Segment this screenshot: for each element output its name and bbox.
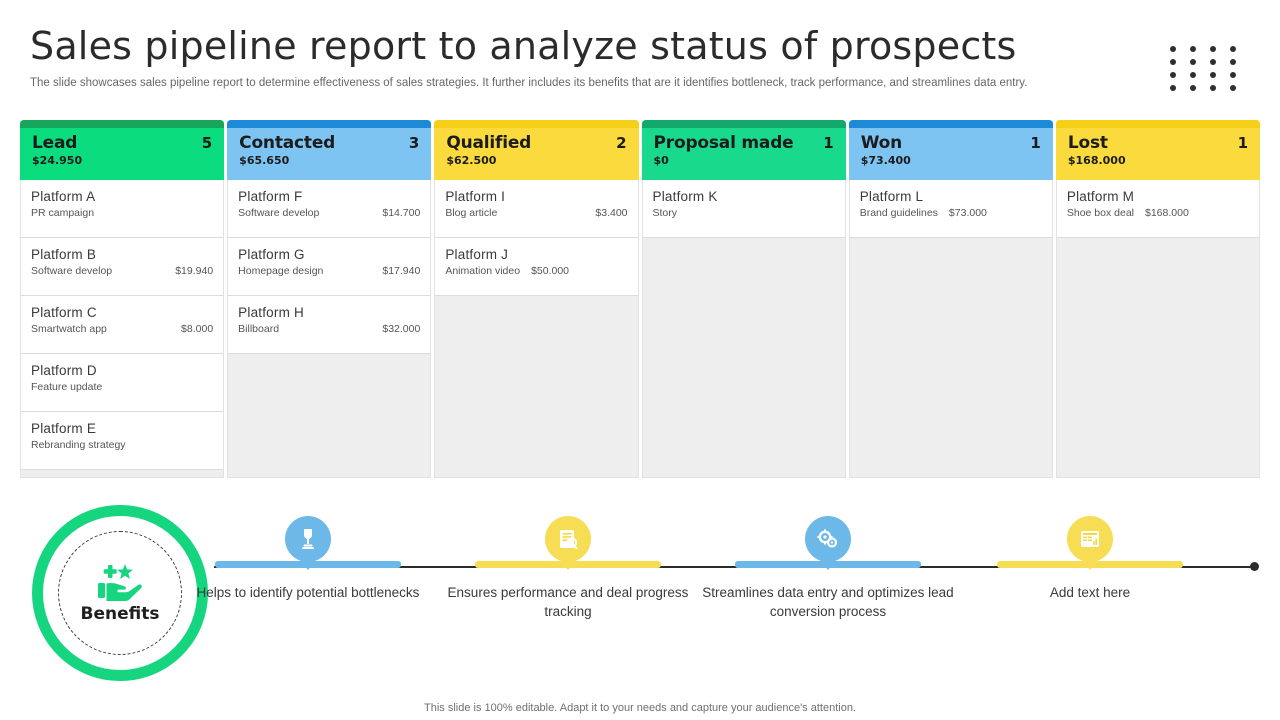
column-count: 5 [202,134,212,152]
deal-card-description: Smartwatch app [31,323,107,335]
deal-card-description: Brand guidelines [860,207,938,219]
column-amount: $65.650 [239,154,419,167]
hand-with-plus-and-star-icon [92,563,148,603]
dot-grid-dot [1170,59,1176,65]
column-amount: $62.500 [446,154,626,167]
column-title: Contacted [239,133,335,153]
pipeline-board: Lead5$24.950Platform APR campaignPlatfor… [20,120,1260,478]
column-header-strip [227,120,431,128]
deal-card[interactable]: Platform KStory [643,180,845,238]
pipeline-column-body: Platform LBrand guidelines$73.000 [849,180,1053,478]
pipeline-column-header[interactable]: Won1$73.400 [849,120,1053,180]
column-amount: $24.950 [32,154,212,167]
milestone-pin[interactable] [805,516,851,562]
deal-card[interactable]: Platform CSmartwatch app$8.000 [21,296,223,354]
deal-card-name: Platform G [238,247,420,263]
column-title: Qualified [446,133,531,153]
column-count: 3 [409,134,419,152]
deal-card-value: $168.000 [1145,207,1189,219]
pipeline-column-header[interactable]: Contacted3$65.650 [227,120,431,180]
pipeline-column: Proposal made1$0Platform KStory [642,120,846,478]
milestone-label: Helps to identify potential bottlenecks [179,583,437,602]
deal-card[interactable]: Platform MShoe box deal$168.000 [1057,180,1259,238]
deal-card[interactable]: Platform HBillboard$32.000 [228,296,430,354]
dot-grid-icon [1170,46,1250,98]
deal-card[interactable]: Platform DFeature update [21,354,223,412]
deal-card-value: $14.700 [382,207,420,219]
deal-card-value: $17.940 [382,265,420,277]
column-count: 2 [616,134,626,152]
column-header-strip [20,120,224,128]
deal-card-value: $8.000 [181,323,213,335]
column-header-strip [849,120,1053,128]
benefits-badge-inner: Benefits [58,531,182,655]
deal-card-name: Platform L [860,189,1042,205]
milestone-label: Add text here [961,583,1219,602]
dot-grid-dot [1210,59,1216,65]
column-header-strip [434,120,638,128]
column-count: 1 [823,134,833,152]
deal-card-name: Platform E [31,421,213,437]
deal-card[interactable]: Platform ERebranding strategy [21,412,223,470]
benefits-label: Benefits [81,604,160,624]
deal-card[interactable]: Platform LBrand guidelines$73.000 [850,180,1052,238]
dot-grid-dot [1190,59,1196,65]
dot-grid-dot [1230,46,1236,52]
pipeline-column-header[interactable]: Qualified2$62.500 [434,120,638,180]
deal-card-description: Software develop [31,265,112,277]
pipeline-column: Won1$73.400Platform LBrand guidelines$73… [849,120,1053,478]
pipeline-column-header[interactable]: Lead5$24.950 [20,120,224,180]
timeline-end-dot [1250,562,1259,571]
deal-card-name: Platform J [445,247,627,263]
pipeline-column-header[interactable]: Proposal made1$0 [642,120,846,180]
deal-card-name: Platform D [31,363,213,379]
dot-grid-dot [1170,85,1176,91]
chart-grid-icon [1078,527,1102,551]
pipeline-column: Lead5$24.950Platform APR campaignPlatfor… [20,120,224,478]
deal-card-name: Platform H [238,305,420,321]
pipeline-column-body: Platform MShoe box deal$168.000 [1056,180,1260,478]
deal-card-value: $73.000 [949,207,987,219]
dot-grid-dot [1170,46,1176,52]
deal-card-name: Platform B [31,247,213,263]
dot-grid-dot [1230,59,1236,65]
dot-grid-dot [1230,85,1236,91]
deal-card[interactable]: Platform FSoftware develop$14.700 [228,180,430,238]
column-title: Won [861,133,902,153]
deal-card-name: Platform C [31,305,213,321]
deal-card-value: $19.940 [175,265,213,277]
benefits-timeline: Benefits Helps to identify potential bot… [0,490,1280,680]
deal-card-description: Feature update [31,381,102,393]
deal-card-description: Rebranding strategy [31,439,126,451]
dot-grid-dot [1170,72,1176,78]
deal-card[interactable]: Platform IBlog article$3.400 [435,180,637,238]
deal-card[interactable]: Platform BSoftware develop$19.940 [21,238,223,296]
pipeline-column: Lost1$168.000Platform MShoe box deal$168… [1056,120,1260,478]
deal-card[interactable]: Platform APR campaign [21,180,223,238]
deal-card-description: PR campaign [31,207,94,219]
slide-canvas: Sales pipeline report to analyze status … [0,0,1280,720]
deal-card-name: Platform K [653,189,835,205]
column-count: 1 [1030,134,1040,152]
dot-grid-dot [1210,46,1216,52]
slide-header: Sales pipeline report to analyze status … [0,0,1280,110]
deal-card-description: Billboard [238,323,279,335]
dot-grid-dot [1190,85,1196,91]
deal-card-name: Platform M [1067,189,1249,205]
milestone-pin[interactable] [545,516,591,562]
milestone-pin[interactable] [1067,516,1113,562]
pipeline-column-body: Platform IBlog article$3.400Platform JAn… [434,180,638,478]
column-title: Lead [32,133,77,153]
deal-card-description: Homepage design [238,265,323,277]
deal-card-value: $3.400 [595,207,627,219]
deal-card[interactable]: Platform GHomepage design$17.940 [228,238,430,296]
milestone-label: Ensures performance and deal progress tr… [439,583,697,621]
deal-card-name: Platform F [238,189,420,205]
trophy-icon [296,527,320,551]
deal-card-value: $32.000 [382,323,420,335]
dot-grid-dot [1210,72,1216,78]
page-subtitle: The slide showcases sales pipeline repor… [30,77,1027,89]
dot-grid-dot [1210,85,1216,91]
deal-card-description: Shoe box deal [1067,207,1134,219]
column-amount: $0 [654,154,834,167]
footer-note: This slide is 100% editable. Adapt it to… [0,702,1280,714]
deal-card-description: Blog article [445,207,497,219]
deal-card-name: Platform I [445,189,627,205]
column-title: Proposal made [654,133,794,153]
deal-card-description: Software develop [238,207,319,219]
milestone-pin[interactable] [285,516,331,562]
milestone-label: Streamlines data entry and optimizes lea… [699,583,957,621]
page-title: Sales pipeline report to analyze status … [30,24,1017,68]
column-amount: $73.400 [861,154,1041,167]
dot-grid-dot [1190,46,1196,52]
column-header-strip [1056,120,1260,128]
column-amount: $168.000 [1068,154,1248,167]
dot-grid-dot [1230,72,1236,78]
deal-card-description: Story [653,207,678,219]
deal-card-description: Animation video [445,265,520,277]
column-title: Lost [1068,133,1108,153]
pipeline-column: Contacted3$65.650Platform FSoftware deve… [227,120,431,478]
dot-grid-dot [1190,72,1196,78]
deal-card[interactable]: Platform JAnimation video$50.000 [435,238,637,296]
deal-card-name: Platform A [31,189,213,205]
deal-card-value: $50.000 [531,265,569,277]
pipeline-column-body: Platform APR campaignPlatform BSoftware … [20,180,224,478]
document-search-icon [556,527,580,551]
pipeline-column-body: Platform KStory [642,180,846,478]
pipeline-column-header[interactable]: Lost1$168.000 [1056,120,1260,180]
column-count: 1 [1238,134,1248,152]
pipeline-column: Qualified2$62.500Platform IBlog article$… [434,120,638,478]
pipeline-column-body: Platform FSoftware develop$14.700Platfor… [227,180,431,478]
gears-icon [816,527,840,551]
column-header-strip [642,120,846,128]
